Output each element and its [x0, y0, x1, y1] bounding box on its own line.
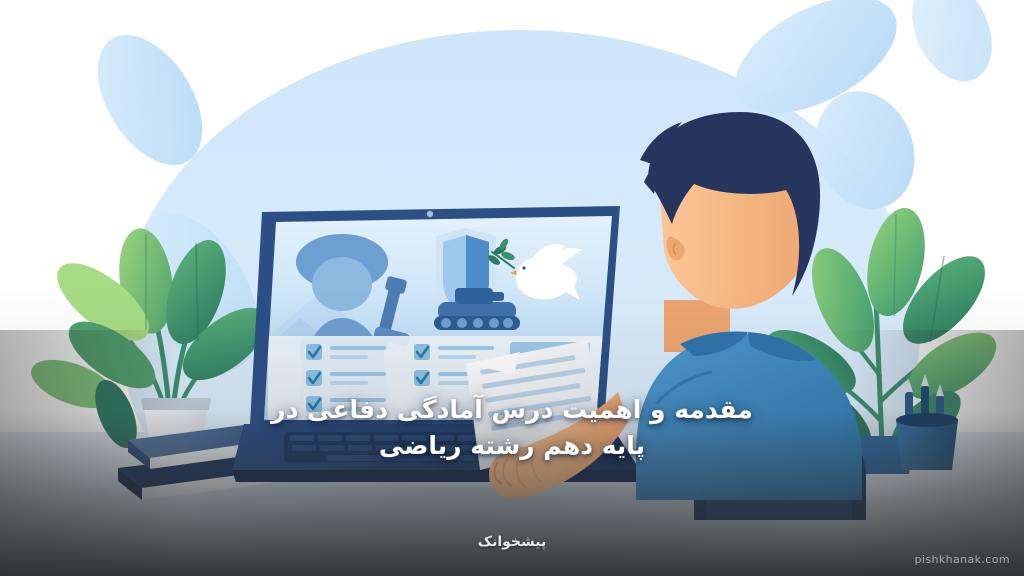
- page-title-line-1: مقدمه و اهمیت درس آمادگی دفاعی در: [120, 392, 904, 428]
- page-title-line-2: پایه دهم رشته ریاضی: [120, 428, 904, 464]
- poster-canvas: مقدمه و اهمیت درس آمادگی دفاعی در پایه د…: [0, 0, 1024, 576]
- page-title: مقدمه و اهمیت درس آمادگی دفاعی در پایه د…: [0, 392, 1024, 464]
- vignette-overlay: [0, 0, 1024, 576]
- watermark: pishkhanak.com: [915, 553, 1011, 566]
- brand-label: پیشخوانک: [0, 534, 1024, 550]
